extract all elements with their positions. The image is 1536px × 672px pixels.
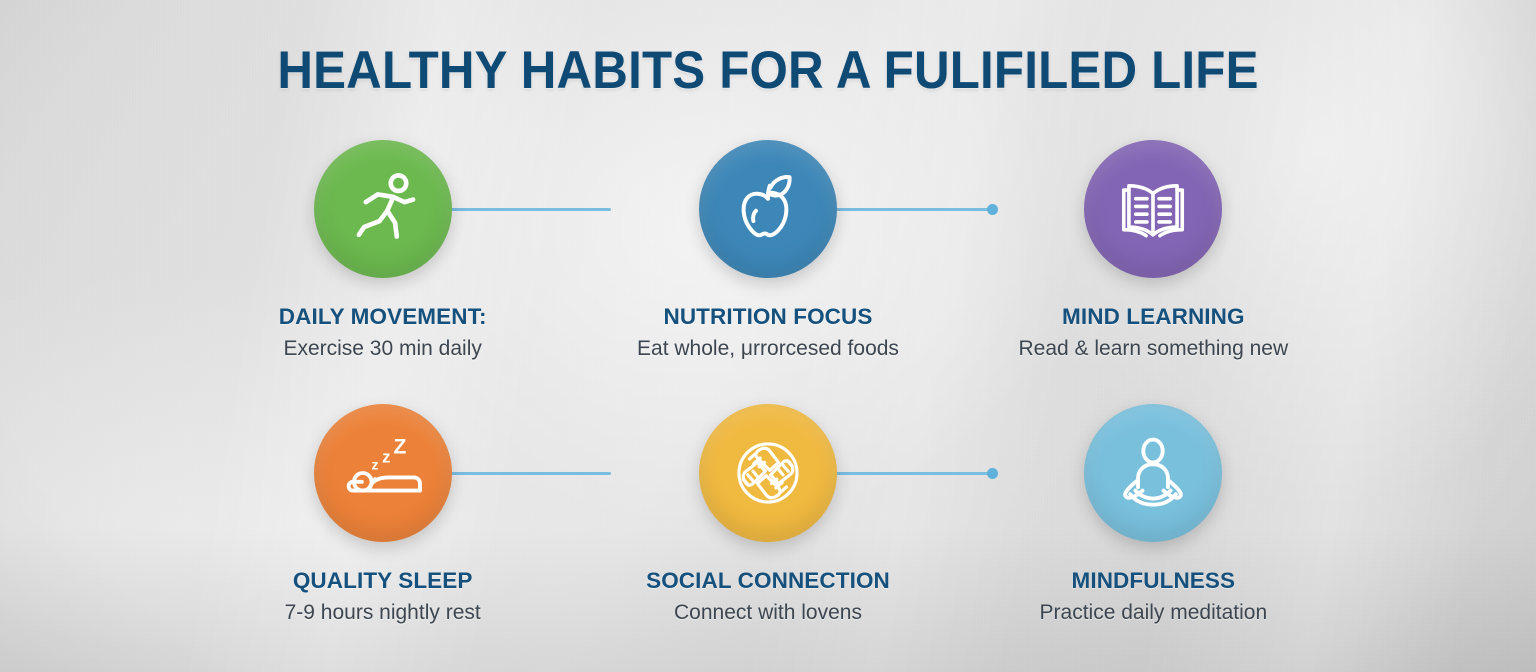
habit-description: Read & learn something new [1018,337,1288,361]
habit-label: NUTRITION FOCUS [663,304,872,330]
connector-dot [987,468,998,479]
habit-icon-circle-mindfulness[interactable] [1084,404,1222,542]
habit-description: Exercise 30 min daily [283,337,481,361]
connector-line [433,472,611,475]
habit-icon-circle-nutrition-focus[interactable] [699,140,837,278]
connector-social-to-mindfulness [818,466,996,480]
habit-node-quality-sleep[interactable]: z z Z QUALITY SLEEP 7-9 hours nightly re… [190,404,575,668]
running-person-icon [340,166,426,252]
habit-icon-circle-social-connection[interactable] [699,404,837,542]
habit-icon-circle-quality-sleep[interactable]: z z Z [314,404,452,542]
habit-node-mindfulness[interactable]: MINDFULNESS Practice daily meditation [961,404,1346,668]
habit-label: SOCIAL CONNECTION [646,568,890,594]
open-book-icon [1110,166,1196,252]
infographic-poster: HEALTHY HABITS FOR A FULIFILED LIFE DAIL… [0,0,1536,672]
connector-line [818,472,996,475]
connector-nutrition-to-mind [818,202,996,216]
apple-icon [725,166,811,252]
joined-hands-icon [724,429,812,517]
habits-grid: DAILY MOVEMENT: Exercise 30 min daily NU… [190,140,1346,668]
habit-label: DAILY MOVEMENT: [279,304,487,330]
page-title: HEALTHY HABITS FOR A FULIFILED LIFE [54,44,1482,98]
habit-description: Connect with lovens [674,601,862,625]
habit-node-daily-movement[interactable]: DAILY MOVEMENT: Exercise 30 min daily [190,140,575,404]
habit-description: 7-9 hours nightly rest [285,601,481,625]
connector-sleep-to-social [433,466,611,480]
connector-movement-to-nutrition [433,202,611,216]
connector-line [818,208,996,211]
habit-description: Eat whole, μrrorcesed foods [637,337,899,361]
meditating-person-icon [1109,429,1197,517]
svg-text:Z: Z [393,436,406,459]
svg-text:z: z [382,447,390,466]
sleeping-person-icon: z z Z [339,429,427,517]
connector-dot [987,204,998,215]
connector-line [433,208,611,211]
habit-node-social-connection[interactable]: SOCIAL CONNECTION Connect with lovens [575,404,960,668]
svg-text:z: z [371,456,378,472]
habit-description: Practice daily meditation [1040,601,1268,625]
habit-node-mind-learning[interactable]: MIND LEARNING Read & learn something new [961,140,1346,404]
habit-node-nutrition-focus[interactable]: NUTRITION FOCUS Eat whole, μrrorcesed fo… [575,140,960,404]
habit-label: MIND LEARNING [1062,304,1245,330]
habit-icon-circle-mind-learning[interactable] [1084,140,1222,278]
habit-icon-circle-daily-movement[interactable] [314,140,452,278]
habit-label: QUALITY SLEEP [293,568,473,594]
habit-label: MINDFULNESS [1072,568,1236,594]
